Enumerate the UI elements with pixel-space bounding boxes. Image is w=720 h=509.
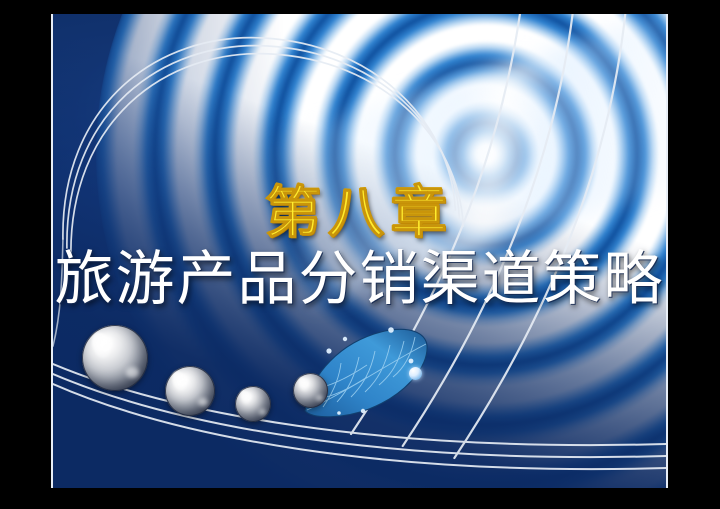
pearl-medium [165,366,215,416]
pearl-large [82,325,148,391]
screenshot-canvas: 第八章 旅游产品分销渠道策略 [0,0,720,509]
slide-title-subtitle: 旅游产品分销渠道策略 [53,248,666,312]
pearl-small [235,386,271,422]
presentation-slide: 第八章 旅游产品分销渠道策略 [51,14,668,488]
slide-title-main: 第八章 [53,185,666,244]
pearl-tiny [293,373,328,408]
